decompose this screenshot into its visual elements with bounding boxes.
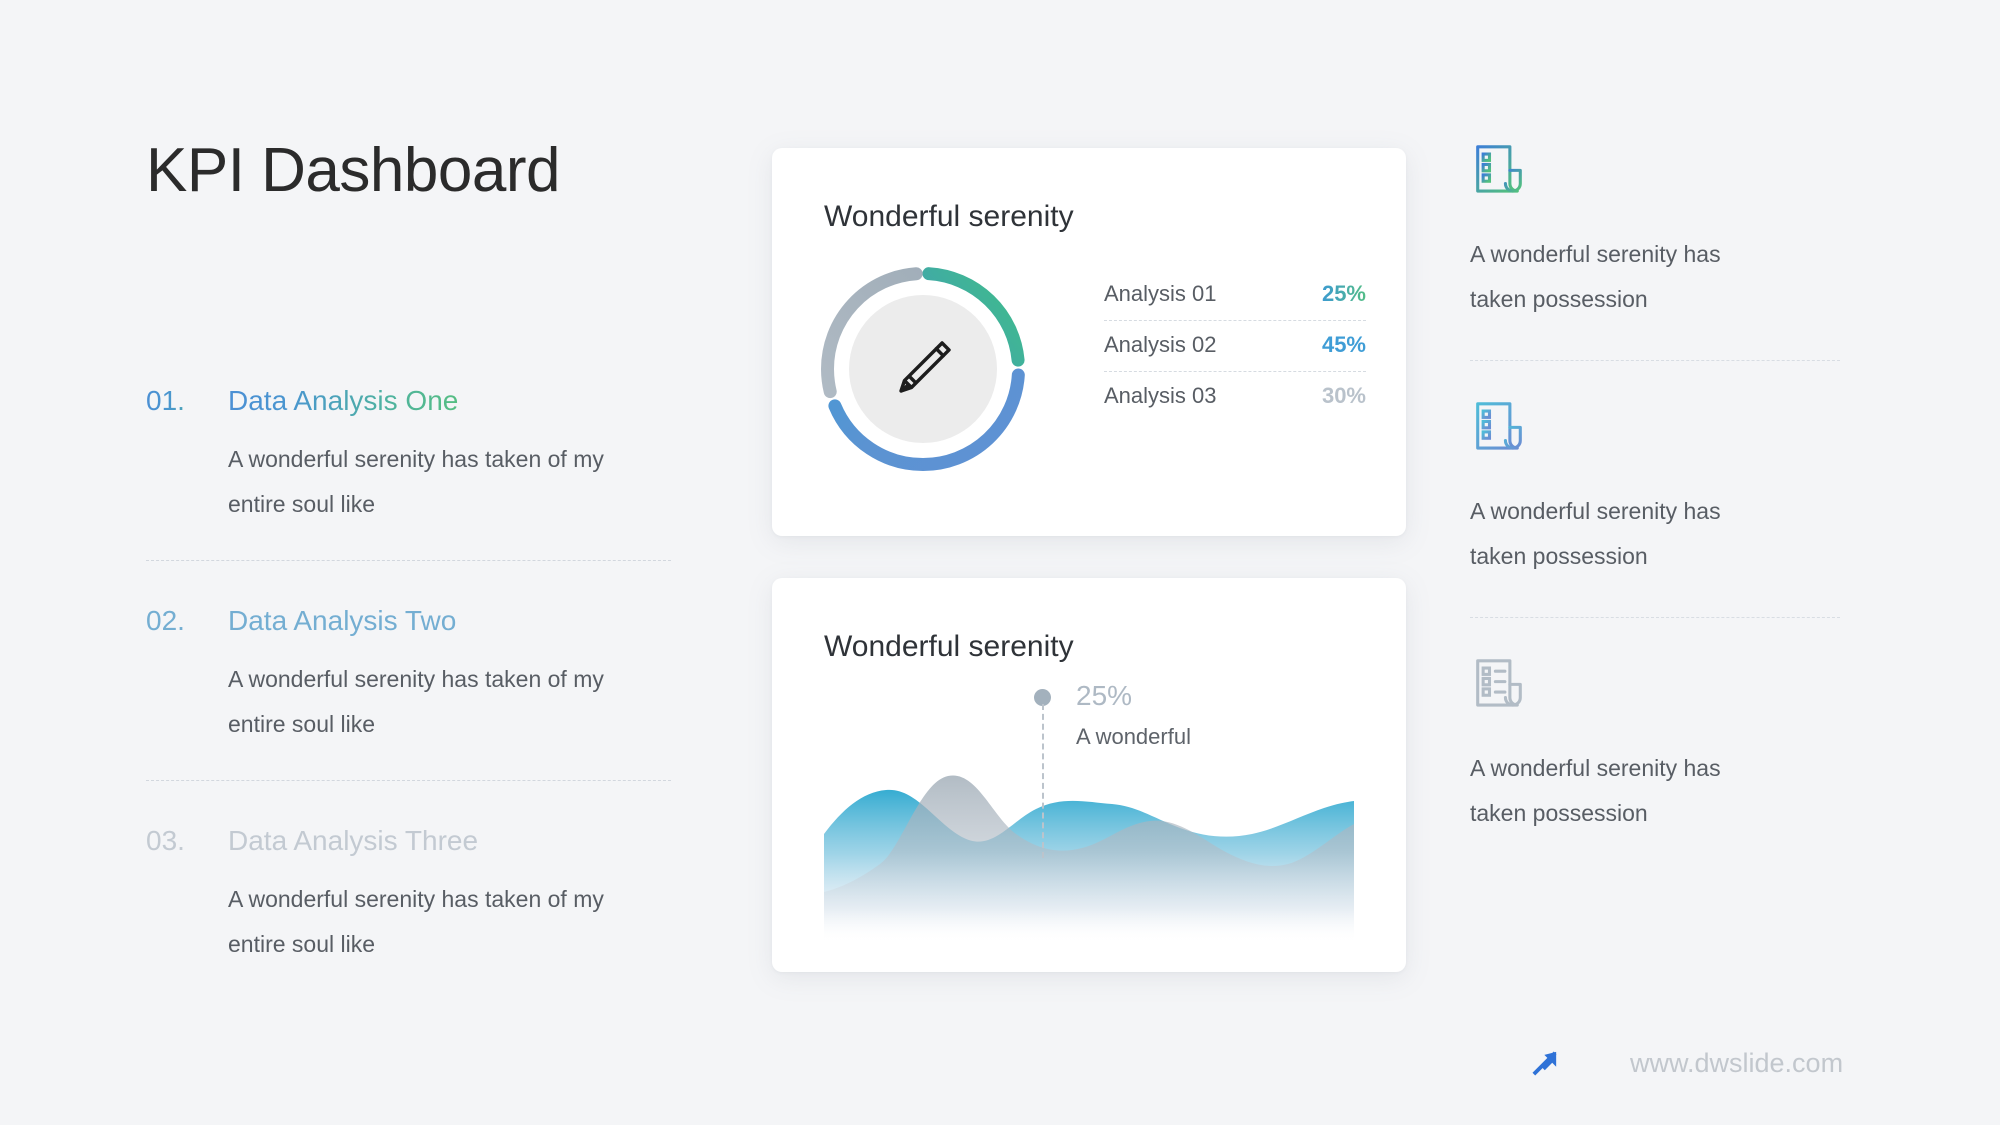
analysis-list: 01. Data Analysis One A wonderful sereni…	[146, 385, 671, 971]
annotation-value: 25%	[1076, 680, 1132, 712]
spacer	[146, 785, 671, 825]
pencil-icon	[886, 332, 960, 406]
list-item[interactable]: A wonderful serenity has taken possessio…	[1470, 397, 1840, 618]
legend-value: 25%	[1322, 281, 1366, 307]
legend-value: 45%	[1322, 332, 1366, 358]
list-item-text: A wonderful serenity has taken possessio…	[1470, 489, 1770, 579]
list-item[interactable]: 01. Data Analysis One A wonderful sereni…	[146, 385, 671, 565]
legend-label: Analysis 01	[1104, 281, 1217, 307]
legend-row[interactable]: Analysis 03 30%	[1104, 371, 1366, 422]
legend-label: Analysis 02	[1104, 332, 1217, 358]
annotation-label: A wonderful	[1076, 724, 1191, 750]
divider	[1470, 360, 1840, 361]
footer: www.dwslide.com	[1528, 1046, 1843, 1080]
analysis-item-heading: 02. Data Analysis Two	[146, 605, 671, 637]
analysis-item-number: 02.	[146, 605, 228, 637]
analysis-item-body: A wonderful serenity has taken of my ent…	[228, 657, 648, 747]
area-chart[interactable]: 25% A wonderful	[824, 674, 1354, 942]
donut-chart[interactable]	[814, 260, 1032, 478]
analysis-item-heading: 01. Data Analysis One	[146, 385, 671, 417]
checklist-document-icon	[1470, 140, 1528, 198]
analysis-item-body: A wonderful serenity has taken of my ent…	[228, 437, 648, 527]
analysis-item-body: A wonderful serenity has taken of my ent…	[228, 877, 648, 967]
page-title: KPI Dashboard	[146, 135, 560, 206]
analysis-item-title: Data Analysis One	[228, 385, 458, 417]
card-title: Wonderful serenity	[824, 200, 1074, 234]
divider	[146, 780, 671, 781]
divider	[146, 560, 671, 561]
legend-row[interactable]: Analysis 01 25%	[1104, 270, 1366, 320]
checklist-document-icon	[1470, 654, 1528, 712]
spacer	[146, 565, 671, 605]
list-item-text: A wonderful serenity has taken possessio…	[1470, 232, 1770, 322]
list-item[interactable]: 03. Data Analysis Three A wonderful sere…	[146, 825, 671, 971]
slide-root: KPI Dashboard 01. Data Analysis One A wo…	[0, 0, 2000, 1125]
analysis-item-title: Data Analysis Three	[228, 825, 478, 857]
legend-row[interactable]: Analysis 02 45%	[1104, 320, 1366, 371]
right-column: A wonderful serenity has taken possessio…	[1470, 140, 1840, 836]
list-item[interactable]: A wonderful serenity has taken possessio…	[1470, 654, 1840, 836]
checklist-document-icon	[1470, 397, 1528, 455]
divider	[1470, 617, 1840, 618]
area-chart-card: Wonderful serenity	[772, 578, 1406, 972]
spacer	[1470, 618, 1840, 654]
list-item[interactable]: A wonderful serenity has taken possessio…	[1470, 140, 1840, 361]
legend-label: Analysis 03	[1104, 383, 1217, 409]
annotation-leader-line	[1042, 704, 1044, 858]
legend-value: 30%	[1322, 383, 1366, 409]
arrow-up-right-icon[interactable]	[1528, 1046, 1562, 1080]
donut-legend: Analysis 01 25% Analysis 02 45% Analysis…	[1104, 270, 1366, 422]
analysis-item-number: 03.	[146, 825, 228, 857]
card-title: Wonderful serenity	[824, 630, 1074, 664]
footer-url[interactable]: www.dwslide.com	[1630, 1048, 1843, 1079]
list-item-text: A wonderful serenity has taken possessio…	[1470, 746, 1770, 836]
analysis-item-title: Data Analysis Two	[228, 605, 456, 637]
analysis-item-heading: 03. Data Analysis Three	[146, 825, 671, 857]
donut-chart-card: Wonderful serenity	[772, 148, 1406, 536]
spacer	[1470, 361, 1840, 397]
area-chart-svg	[824, 674, 1354, 942]
analysis-item-number: 01.	[146, 385, 228, 417]
list-item[interactable]: 02. Data Analysis Two A wonderful sereni…	[146, 605, 671, 785]
